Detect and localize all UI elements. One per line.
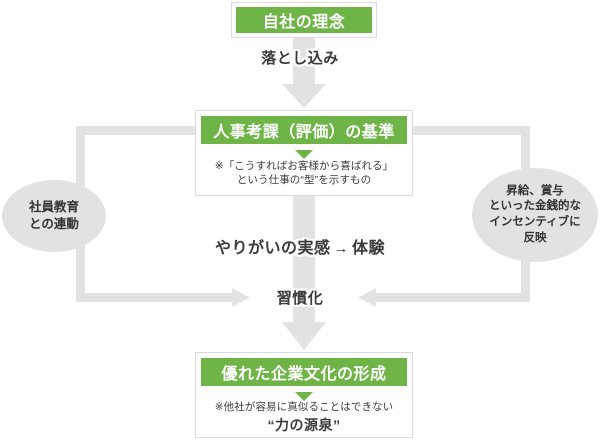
- card-philosophy-heading: 自社の理念: [236, 7, 372, 33]
- card-culture-heading: 優れた企業文化の形成: [201, 358, 407, 386]
- card-criteria-heading: 人事考課（評価）の基準: [201, 116, 407, 144]
- caption-fulfillment: やりがいの実感→体験: [0, 234, 600, 258]
- card-criteria-note: ※「こうすればお客様から喜ばれる」という仕事の“型”を示すもの: [201, 159, 407, 188]
- caption-habit: 習慣化: [0, 287, 600, 308]
- process-diagram: 自社の理念 落とし込み 人事考課（評価）の基準 ※「こうすればお客様から喜ばれる…: [0, 0, 600, 443]
- caption-fulfillment-left: やりがいの実感: [215, 240, 331, 257]
- caption-deploy: 落とし込み: [0, 47, 600, 68]
- card-culture-note-strong: “力の源泉”: [201, 416, 407, 435]
- right-arrow-icon-caption: →: [331, 240, 353, 257]
- card-culture-note: ※他社が容易に真似ることはできない “力の源泉”: [201, 400, 407, 436]
- card-philosophy: 自社の理念: [231, 2, 377, 38]
- card-criteria: 人事考課（評価）の基準 ※「こうすればお客様から喜ばれる」という仕事の“型”を示…: [195, 110, 413, 196]
- chevron-down-icon-culture: [295, 392, 313, 401]
- card-culture-note-text: ※他社が容易に真似ることはできない: [215, 401, 394, 413]
- chevron-down-icon-criteria: [295, 150, 313, 159]
- caption-fulfillment-right: 体験: [352, 240, 385, 257]
- down-arrow-icon-center: [282, 196, 326, 350]
- ellipse-employee-education-label: 社員教育との連動: [29, 199, 79, 233]
- card-culture: 優れた企業文化の形成 ※他社が容易に真似ることはできない “力の源泉”: [195, 352, 413, 438]
